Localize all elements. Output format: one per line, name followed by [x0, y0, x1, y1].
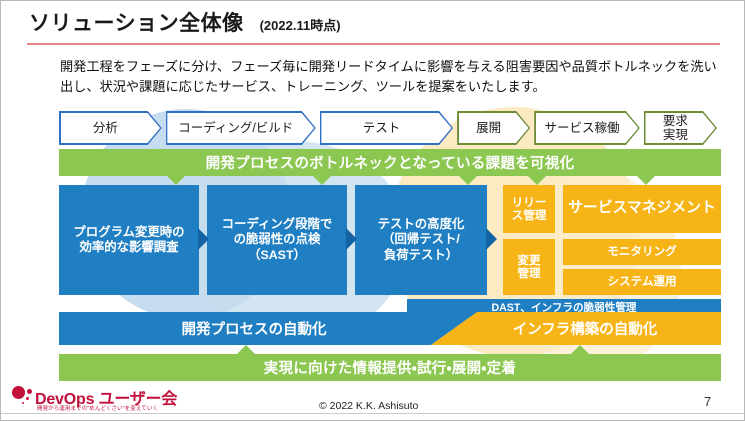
- phase-chevron-service-operation[interactable]: サービス稼働: [534, 111, 640, 145]
- title-divider: [27, 43, 720, 45]
- ops-box-change-management[interactable]: 変更 管理: [503, 239, 555, 295]
- page-number: 7: [704, 394, 711, 409]
- phase-chevron-requirement-realization[interactable]: 要求 実現: [644, 111, 717, 145]
- logo-dot-tiny-icon: [22, 402, 24, 404]
- page-title: ソリューション全体像: [29, 7, 244, 37]
- band-realization-support: 実現に向けた情報提供・試行・展開・定着: [59, 354, 721, 381]
- logo-tagline: 開発から運用までの"めんどくさい"を変えていく: [37, 404, 158, 412]
- green-arrow-up-1: [237, 345, 255, 354]
- automation-label-dev: 開発プロセスの自動化: [59, 312, 449, 345]
- phase-chevron-test-label: テスト: [320, 111, 453, 145]
- flow-arrow-3: [486, 228, 497, 250]
- slide-root: ソリューション全体像 (2022.11時点) 開発工程をフェーズに分け、フェーズ…: [0, 0, 745, 421]
- green-arrow-down-4: [528, 176, 546, 185]
- title-date-note: (2022.11時点): [260, 15, 341, 34]
- phase-chevron-test[interactable]: テスト: [320, 111, 453, 145]
- phase-chevron-analysis-label: 分析: [59, 111, 162, 145]
- automation-label-infra: インフラ構築の自動化: [449, 312, 721, 345]
- phase-chevron-service-operation-label: サービス稼働: [534, 111, 640, 145]
- phase-chevron-row: 分析 コーディング/ビルド テスト 展開 サービス稼働 要求 実現: [59, 111, 721, 145]
- slide-title-row: ソリューション全体像 (2022.11時点): [29, 7, 341, 37]
- ops-box-system-operation[interactable]: システム運用: [563, 269, 721, 295]
- capability-box-advanced-testing[interactable]: テストの高度化 （回帰テスト/ 負荷テスト）: [355, 185, 487, 295]
- band-visualize-bottlenecks: 開発プロセスのボトルネックとなっている課題を可視化: [59, 149, 721, 176]
- phase-chevron-analysis[interactable]: 分析: [59, 111, 162, 145]
- green-arrow-down-1: [167, 176, 185, 185]
- phase-chevron-coding-build[interactable]: コーディング/ビルド: [166, 111, 316, 145]
- flow-arrow-1: [198, 228, 209, 250]
- logo-dot-large-icon: [12, 386, 25, 399]
- devops-user-group-logo: DevOps ユーザー会 開発から運用までの"めんどくさい"を変えていく: [7, 383, 187, 417]
- ops-box-service-management[interactable]: サービスマネジメント: [563, 185, 721, 233]
- ops-box-release-management[interactable]: リリー ス管理: [503, 185, 555, 233]
- ops-box-monitoring[interactable]: モニタリング: [563, 239, 721, 265]
- green-arrow-down-3: [459, 176, 477, 185]
- automation-split-bar: 開発プロセスの自動化 インフラ構築の自動化: [59, 312, 721, 345]
- logo-dot-medium-icon: [27, 389, 32, 394]
- phase-chevron-deploy[interactable]: 展開: [457, 111, 530, 145]
- lead-paragraph: 開発工程をフェーズに分け、フェーズ毎に開発リードタイムに影響を与える阻害要因や品…: [60, 57, 720, 98]
- capability-box-sast[interactable]: コーディング段階で の脆弱性の点検 （SAST）: [207, 185, 347, 295]
- copyright-notice: © 2022 K.K. Ashisuto: [319, 400, 418, 412]
- phase-chevron-coding-build-label: コーディング/ビルド: [166, 111, 316, 145]
- phase-chevron-requirement-realization-label: 要求 実現: [644, 111, 717, 145]
- capability-box-impact-analysis[interactable]: プログラム変更時の 効率的な影響調査: [59, 185, 199, 295]
- green-arrow-down-2: [313, 176, 331, 185]
- flow-arrow-2: [346, 228, 357, 250]
- green-arrow-down-5: [637, 176, 655, 185]
- phase-chevron-deploy-label: 展開: [457, 111, 530, 145]
- green-arrow-up-2: [571, 345, 589, 354]
- solution-overview-diagram: 分析 コーディング/ビルド テスト 展開 サービス稼働 要求 実現: [59, 111, 721, 383]
- logo-dot-small-icon: [26, 397, 29, 400]
